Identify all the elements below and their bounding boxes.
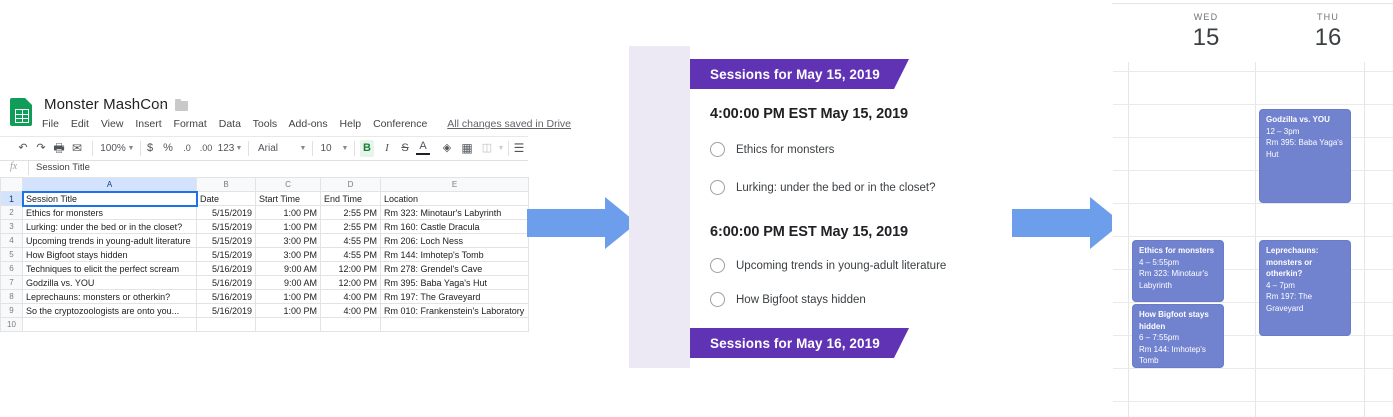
star-icon[interactable]: ☆ [155, 99, 166, 113]
cell-C7[interactable]: 9:00 AM [256, 276, 321, 290]
option-label: Lurking: under the bed or in the closet? [736, 182, 935, 194]
cell-C5[interactable]: 3:00 PM [256, 248, 321, 262]
calendar-event-ethics[interactable]: Ethics for monsters 4 – 5:55pm Rm 323: M… [1132, 240, 1224, 302]
cell-A4[interactable]: Upcoming trends in young-adult literatur… [23, 234, 197, 248]
calendar-event-godzilla[interactable]: Godzilla vs. YOU 12 – 3pm Rm 395: Baba Y… [1259, 109, 1351, 203]
event-time: 6 – 7:55pm [1139, 332, 1218, 344]
cell-D3[interactable]: 2:55 PM [321, 220, 381, 234]
event-time: 4 – 5:55pm [1139, 257, 1218, 269]
row-header-2[interactable]: 2 [1, 206, 23, 220]
row-header-4[interactable]: 4 [1, 234, 23, 248]
zoom-chevron-down-icon[interactable]: ▼ [126, 140, 136, 157]
table-row[interactable]: 7Godzilla vs. YOU5/16/20199:00 AM12:00 P… [1, 276, 529, 290]
column-header-b[interactable]: B [197, 178, 256, 192]
cell-A5[interactable]: How Bigfoot stays hidden [23, 248, 197, 262]
cell-B2[interactable]: 5/15/2019 [197, 206, 256, 220]
cell-B7[interactable]: 5/16/2019 [197, 276, 256, 290]
formula-bar-divider [28, 160, 29, 175]
fill-color-icon[interactable]: ◈ [440, 140, 454, 157]
text-color-icon[interactable]: A [416, 140, 430, 155]
document-title[interactable]: Monster MashCon [44, 96, 168, 113]
cell-E5[interactable]: Rm 144: Imhotep's Tomb [381, 248, 529, 262]
row-header-8[interactable]: 8 [1, 290, 23, 304]
google-form-preview: Sessions for May 15, 2019 4:00:00 PM EST… [629, 46, 925, 368]
menu-bar: File Edit View Insert Format Data Tools … [42, 118, 571, 130]
cell-E7[interactable]: Rm 395: Baba Yaga's Hut [381, 276, 529, 290]
zoom-level-value[interactable]: 100% [98, 140, 128, 157]
cell-D4[interactable]: 4:55 PM [321, 234, 381, 248]
calendar-hour-line [1113, 203, 1393, 204]
font-chevron-down-icon[interactable]: ▼ [298, 140, 308, 157]
cell-A2[interactable]: Ethics for monsters [23, 206, 197, 220]
cell-C10[interactable] [256, 318, 321, 332]
cell-C1[interactable]: Start Time [256, 192, 321, 206]
row-header-7[interactable]: 7 [1, 276, 23, 290]
calendar-column-divider [1255, 62, 1256, 417]
cell-C9[interactable]: 1:00 PM [256, 304, 321, 318]
calendar-hour-line [1113, 104, 1393, 105]
event-location: Rm 395: Baba Yaga's Hut [1266, 137, 1345, 160]
google-calendar-week-view: WED 15 THU 16 Godzilla vs. YOU 12 – 3pm … [1112, 0, 1393, 417]
select-all-corner[interactable] [1, 178, 23, 192]
option-how-bigfoot-stays-hidden[interactable]: How Bigfoot stays hidden [710, 292, 866, 307]
event-time: 12 – 3pm [1266, 126, 1345, 138]
table-row[interactable]: 10 [1, 318, 529, 332]
cell-C8[interactable]: 1:00 PM [256, 290, 321, 304]
menu-item-conference[interactable]: Conference [373, 118, 427, 130]
sheets-titlebar: Monster MashCon ☆ File Edit View Insert … [0, 94, 528, 136]
cell-B4[interactable]: 5/15/2019 [197, 234, 256, 248]
calendar-dow-label: THU [1272, 12, 1384, 22]
calendar-hour-line [1113, 302, 1393, 303]
column-header-c[interactable]: C [256, 178, 321, 192]
column-header-a[interactable]: A [23, 178, 197, 192]
cell-C6[interactable]: 9:00 AM [256, 262, 321, 276]
font-size-value[interactable]: 10 [316, 140, 336, 157]
google-sheets-icon[interactable] [10, 98, 32, 126]
cell-A9[interactable]: So the cryptozoologists are onto you... [23, 304, 197, 318]
save-status-link[interactable]: All changes saved in Drive [447, 118, 571, 130]
align-icon[interactable]: ☰ [512, 140, 526, 157]
cell-A1[interactable]: Session Title [23, 192, 197, 206]
calendar-day-number[interactable]: 15 [1150, 24, 1262, 52]
cell-A8[interactable]: Leprechauns: monsters or otherkin? [23, 290, 197, 304]
menu-item-help[interactable]: Help [340, 118, 362, 130]
cell-E6[interactable]: Rm 278: Grendel's Cave [381, 262, 529, 276]
cell-D5[interactable]: 4:55 PM [321, 248, 381, 262]
event-location: Rm 144: Imhotep's Tomb [1139, 344, 1218, 367]
calendar-hour-line [1113, 236, 1393, 237]
merge-cells-icon[interactable]: ◫ [480, 140, 494, 157]
currency-format-icon[interactable]: $ [144, 140, 156, 157]
calendar-event-leprechauns[interactable]: Leprechauns: monsters or otherkin? 4 – 7… [1259, 240, 1351, 336]
cell-B1[interactable]: Date [197, 192, 256, 206]
event-title: Godzilla vs. YOU [1266, 114, 1345, 126]
menu-item-tools[interactable]: Tools [253, 118, 278, 130]
table-row[interactable]: 2Ethics for monsters5/15/20191:00 PM2:55… [1, 206, 529, 220]
cell-D1[interactable]: End Time [321, 192, 381, 206]
undo-icon[interactable]: ↶ [16, 140, 30, 157]
time-heading-6pm: 6:00:00 PM EST May 15, 2019 [710, 224, 908, 240]
menu-item-edit[interactable]: Edit [71, 118, 89, 130]
row-header-5[interactable]: 5 [1, 248, 23, 262]
google-sheets-window: Monster MashCon ☆ File Edit View Insert … [0, 94, 528, 320]
cell-D9[interactable]: 4:00 PM [321, 304, 381, 318]
event-title: Leprechauns: monsters or otherkin? [1266, 245, 1345, 280]
row-header-3[interactable]: 3 [1, 220, 23, 234]
calendar-hour-line [1113, 170, 1393, 171]
font-size-chevron-down-icon[interactable]: ▼ [340, 140, 350, 157]
menu-item-data[interactable]: Data [219, 118, 241, 130]
event-time: 4 – 7pm [1266, 280, 1345, 292]
cell-E1[interactable]: Location [381, 192, 529, 206]
radio-button-icon[interactable] [710, 292, 725, 307]
paint-format-icon[interactable]: ✉ [70, 140, 84, 157]
decrease-decimal-icon[interactable]: .0 [180, 140, 194, 157]
formula-bar[interactable]: fx Session Title [0, 159, 528, 178]
calendar-top-divider [1112, 3, 1393, 4]
more-formats-button[interactable]: 123 [216, 140, 236, 157]
increase-decimal-icon[interactable]: .00 [198, 140, 214, 157]
cell-D2[interactable]: 2:55 PM [321, 206, 381, 220]
menu-item-file[interactable]: File [42, 118, 59, 130]
radio-button-icon[interactable] [710, 258, 725, 273]
column-header-d[interactable]: D [321, 178, 381, 192]
cell-D6[interactable]: 12:00 PM [321, 262, 381, 276]
cell-E10[interactable] [381, 318, 529, 332]
time-heading-4pm: 4:00:00 PM EST May 15, 2019 [710, 106, 908, 122]
arrow-right-icon-1 [527, 197, 637, 249]
row-header-1[interactable]: 1 [1, 192, 23, 206]
print-icon[interactable]: 🖶 [52, 140, 66, 157]
cell-E8[interactable]: Rm 197: The Graveyard [381, 290, 529, 304]
row-header-9[interactable]: 9 [1, 304, 23, 318]
row-header-10[interactable]: 10 [1, 318, 23, 332]
cell-A10[interactable] [23, 318, 197, 332]
cell-C4[interactable]: 3:00 PM [256, 234, 321, 248]
section-banner-may15: Sessions for May 15, 2019 [690, 59, 894, 89]
cell-E3[interactable]: Rm 160: Castle Dracula [381, 220, 529, 234]
column-header-e[interactable]: E [381, 178, 529, 192]
italic-icon[interactable]: I [380, 140, 394, 157]
event-title: Ethics for monsters [1139, 245, 1218, 257]
bold-icon[interactable]: B [360, 140, 374, 157]
section-banner-may16-label: Sessions for May 16, 2019 [710, 336, 880, 351]
radio-button-icon[interactable] [710, 142, 725, 157]
calendar-hour-line [1113, 137, 1393, 138]
cell-E9[interactable]: Rm 010: Frankenstein's Laboratory [381, 304, 529, 318]
option-label: Ethics for monsters [736, 144, 834, 156]
sheets-toolbar: ↶ ↷ 🖶 ✉ 100% ▼ $ % .0 .00 123 ▼ Arial ▼ … [0, 136, 528, 161]
table-row[interactable]: 1Session TitleDateStart TimeEnd TimeLoca… [1, 192, 529, 206]
calendar-hour-line [1113, 401, 1393, 402]
cell-D7[interactable]: 12:00 PM [321, 276, 381, 290]
calendar-day-number[interactable]: 16 [1272, 24, 1384, 52]
calendar-column-divider [1364, 62, 1365, 417]
cell-A6[interactable]: Techniques to elicit the perfect scream [23, 262, 197, 276]
menu-item-format[interactable]: Format [174, 118, 207, 130]
radio-button-icon[interactable] [710, 180, 725, 195]
borders-icon[interactable]: ▦ [460, 140, 474, 157]
cell-E4[interactable]: Rm 206: Loch Ness [381, 234, 529, 248]
table-row[interactable]: 9So the cryptozoologists are onto you...… [1, 304, 529, 318]
table-row[interactable]: 8Leprechauns: monsters or otherkin?5/16/… [1, 290, 529, 304]
calendar-event-bigfoot[interactable]: How Bigfoot stays hidden 6 – 7:55pm Rm 1… [1132, 304, 1224, 368]
option-ethics-for-monsters[interactable]: Ethics for monsters [710, 142, 834, 157]
cell-B9[interactable]: 5/16/2019 [197, 304, 256, 318]
menu-item-view[interactable]: View [101, 118, 124, 130]
section-banner-may16: Sessions for May 16, 2019 [690, 328, 894, 358]
calendar-column-divider [1128, 62, 1129, 417]
form-left-strip [629, 46, 690, 368]
calendar-day-header-wed[interactable]: WED 15 [1150, 12, 1262, 52]
spreadsheet-grid[interactable]: ABCDE1Session TitleDateStart TimeEnd Tim… [0, 177, 528, 320]
formats-chevron-down-icon[interactable]: ▼ [234, 140, 244, 157]
event-title: How Bigfoot stays hidden [1139, 309, 1218, 332]
option-label: How Bigfoot stays hidden [736, 294, 866, 306]
cell-B10[interactable] [197, 318, 256, 332]
cell-C3[interactable]: 1:00 PM [256, 220, 321, 234]
font-family-value[interactable]: Arial [252, 140, 298, 157]
calendar-hour-line [1113, 71, 1393, 72]
folder-icon[interactable] [175, 101, 188, 111]
cell-E2[interactable]: Rm 323: Minotaur's Labyrinth [381, 206, 529, 220]
row-header-6[interactable]: 6 [1, 262, 23, 276]
calendar-day-header-thu[interactable]: THU 16 [1272, 12, 1384, 52]
cell-A3[interactable]: Lurking: under the bed or in the closet? [23, 220, 197, 234]
strikethrough-icon[interactable]: S [398, 140, 412, 157]
redo-icon[interactable]: ↷ [34, 140, 48, 157]
menu-item-addons[interactable]: Add-ons [289, 118, 328, 130]
cell-C2[interactable]: 1:00 PM [256, 206, 321, 220]
cell-B3[interactable]: 5/15/2019 [197, 220, 256, 234]
option-lurking-under-the-bed[interactable]: Lurking: under the bed or in the closet? [710, 180, 935, 195]
menu-item-insert[interactable]: Insert [135, 118, 161, 130]
column-header-row: ABCDE [1, 178, 529, 192]
event-location: Rm 323: Minotaur's Labyrinth [1139, 268, 1218, 291]
percent-format-icon[interactable]: % [162, 140, 174, 157]
cell-A7[interactable]: Godzilla vs. YOU [23, 276, 197, 290]
cell-D10[interactable] [321, 318, 381, 332]
calendar-dow-label: WED [1150, 12, 1262, 22]
merge-chevron-down-icon[interactable]: ▼ [496, 140, 506, 157]
option-label: Upcoming trends in young-adult literatur… [736, 260, 946, 272]
calendar-hour-line [1113, 368, 1393, 369]
formula-bar-value[interactable]: Session Title [36, 162, 90, 173]
section-banner-may15-label: Sessions for May 15, 2019 [710, 67, 880, 82]
option-upcoming-trends[interactable]: Upcoming trends in young-adult literatur… [710, 258, 946, 273]
cell-D8[interactable]: 4:00 PM [321, 290, 381, 304]
table-row[interactable]: 4Upcoming trends in young-adult literatu… [1, 234, 529, 248]
table-row[interactable]: 6Techniques to elicit the perfect scream… [1, 262, 529, 276]
table-row[interactable]: 3Lurking: under the bed or in the closet… [1, 220, 529, 234]
form-content: Sessions for May 15, 2019 4:00:00 PM EST… [690, 46, 925, 368]
table-row[interactable]: 5How Bigfoot stays hidden5/15/20193:00 P… [1, 248, 529, 262]
sheet-table: ABCDE1Session TitleDateStart TimeEnd Tim… [0, 177, 529, 332]
arrow-right-icon-2 [1012, 197, 1122, 249]
cell-B5[interactable]: 5/15/2019 [197, 248, 256, 262]
cell-B6[interactable]: 5/16/2019 [197, 262, 256, 276]
fx-icon: fx [10, 161, 17, 172]
cell-B8[interactable]: 5/16/2019 [197, 290, 256, 304]
event-location: Rm 197: The Graveyard [1266, 291, 1345, 314]
